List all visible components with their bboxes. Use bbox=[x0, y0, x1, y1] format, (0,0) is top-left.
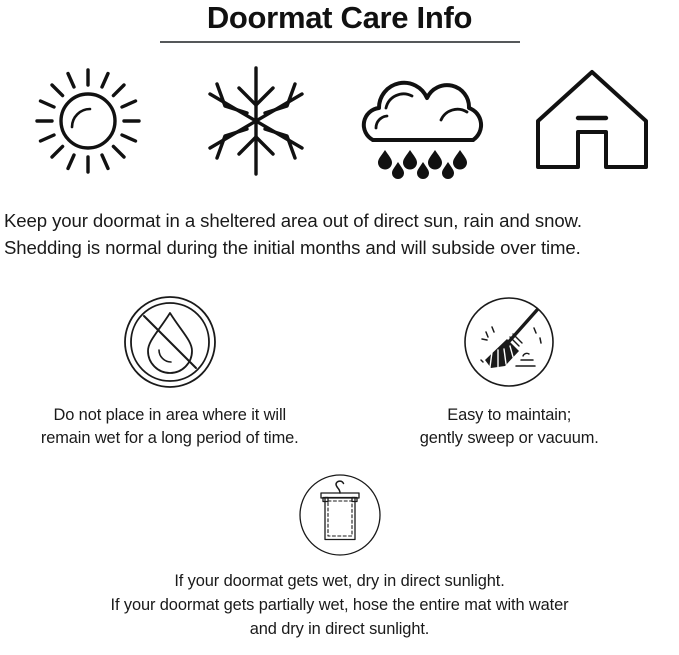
weather-item-sun bbox=[23, 61, 153, 181]
house-icon bbox=[532, 66, 652, 176]
care-icon-wrapper bbox=[120, 292, 220, 392]
drying-caption-line-1: If your doormat gets wet, dry in direct … bbox=[110, 570, 568, 594]
bottom-icon-wrapper bbox=[295, 470, 385, 560]
hang-dry-icon bbox=[296, 471, 384, 559]
weather-icon-row bbox=[0, 61, 679, 181]
care-item-no-standing-water: Do not place in area where it will remai… bbox=[0, 292, 340, 451]
care-item-easy-maintain: Easy to maintain; gently sweep or vacuum… bbox=[340, 292, 679, 451]
intro-line-2: Shedding is normal during the initial mo… bbox=[4, 234, 675, 262]
drying-caption-line-3: and dry in direct sunlight. bbox=[110, 618, 568, 642]
care-row: Do not place in area where it will remai… bbox=[0, 292, 679, 451]
title-block: Doormat Care Info bbox=[0, 0, 679, 43]
care-caption-easy-maintain: Easy to maintain; gently sweep or vacuum… bbox=[420, 404, 599, 451]
drying-instruction-block: If your doormat gets wet, dry in direct … bbox=[0, 470, 679, 641]
care-caption-line-1: Easy to maintain; bbox=[420, 404, 599, 427]
weather-item-house bbox=[527, 61, 657, 181]
title-underline-rule bbox=[160, 41, 520, 43]
weather-item-snowflake bbox=[191, 61, 321, 181]
care-caption-no-standing-water: Do not place in area where it will remai… bbox=[41, 404, 299, 451]
intro-line-1: Keep your doormat in a sheltered area ou… bbox=[4, 207, 675, 235]
sun-icon bbox=[32, 65, 144, 177]
doormat-care-info-page: { "header": { "title": "Doormat Care Inf… bbox=[0, 0, 679, 655]
weather-item-rain-cloud bbox=[359, 61, 489, 181]
drying-instruction-caption: If your doormat gets wet, dry in direct … bbox=[110, 570, 568, 641]
care-caption-line-2: remain wet for a long period of time. bbox=[41, 427, 299, 450]
rain-cloud-icon bbox=[355, 62, 493, 180]
intro-paragraph: Keep your doormat in a sheltered area ou… bbox=[0, 207, 679, 262]
snowflake-icon bbox=[201, 62, 311, 180]
page-title: Doormat Care Info bbox=[0, 2, 679, 35]
no-water-icon bbox=[122, 294, 218, 390]
care-caption-line-1: Do not place in area where it will bbox=[41, 404, 299, 427]
broom-icon bbox=[461, 294, 557, 390]
care-icon-wrapper bbox=[459, 292, 559, 392]
drying-caption-line-2: If your doormat gets partially wet, hose… bbox=[110, 594, 568, 618]
care-caption-line-2: gently sweep or vacuum. bbox=[420, 427, 599, 450]
